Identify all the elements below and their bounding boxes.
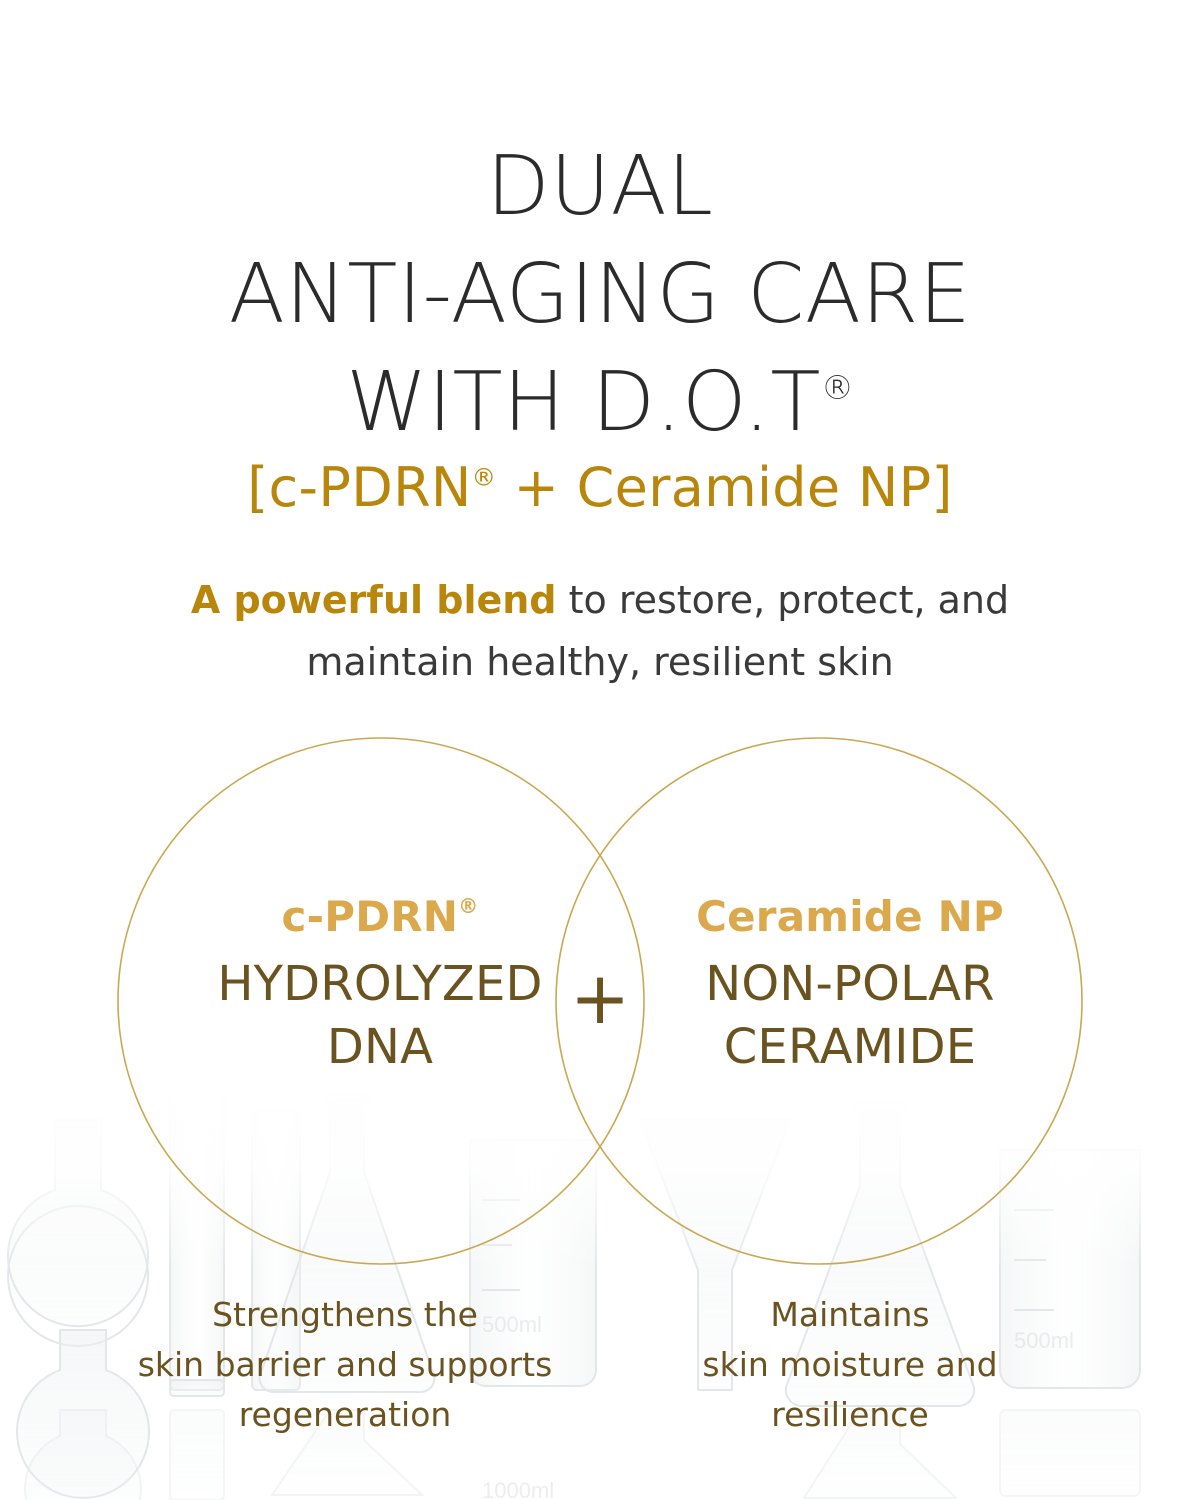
ingredient-bracket: [c-PDRN® + Ceramide NP] — [0, 458, 1200, 517]
benefit-caption-right: Maintains skin moisture and resilience — [640, 1290, 1060, 1440]
venn-right-body-line-1: NON-POLAR — [640, 953, 1060, 1015]
page-title: DUAL ANTI-AGING CARE WITH D.O.T® — [0, 133, 1200, 458]
caption-right-line-1: Maintains — [640, 1290, 1060, 1340]
registered-mark-icon: ® — [472, 462, 497, 491]
venn-left-body: HYDROLYZED DNA — [170, 953, 590, 1078]
bracket-open-text: [c-PDRN — [247, 456, 471, 519]
svg-text:1000ml: 1000ml — [482, 1478, 554, 1500]
venn-right-title: Ceramide NP — [640, 893, 1060, 941]
background-fade-overlay — [0, 1080, 1200, 1270]
registered-mark-icon: ® — [458, 894, 478, 918]
registered-mark-icon: ® — [821, 369, 854, 407]
venn-label-left: c-PDRN® HYDROLYZED DNA — [170, 893, 590, 1078]
caption-left-line-1: Strengthens the — [90, 1290, 600, 1340]
venn-left-title: c-PDRN® — [170, 893, 590, 941]
venn-label-right: Ceramide NP NON-POLAR CERAMIDE — [640, 893, 1060, 1078]
caption-right-line-2: skin moisture and — [640, 1340, 1060, 1390]
venn-left-body-line-2: DNA — [170, 1016, 590, 1078]
venn-right-body-line-2: CERAMIDE — [640, 1016, 1060, 1078]
caption-left-line-2: skin barrier and supports — [90, 1340, 600, 1390]
headline-line-3: WITH D.O.T® — [0, 349, 1200, 457]
descriptor-accent-text: A powerful blend — [191, 578, 557, 622]
descriptor-paragraph: A powerful blend to restore, protect, an… — [0, 570, 1200, 693]
venn-left-body-line-1: HYDROLYZED — [170, 953, 590, 1015]
headline-line-1: DUAL — [0, 133, 1200, 241]
caption-right-line-3: resilience — [640, 1390, 1060, 1440]
venn-right-title-text: Ceramide NP — [696, 892, 1004, 941]
bracket-close-text: + Ceramide NP] — [496, 456, 953, 519]
descriptor-line-1: A powerful blend to restore, protect, an… — [0, 570, 1200, 632]
infographic-canvas: 500ml 500ml 1000ml DUAL ANTI-AGING CARE … — [0, 0, 1200, 1500]
descriptor-line-1-rest: to restore, protect, and — [557, 578, 1010, 622]
caption-left-line-3: regeneration — [90, 1390, 600, 1440]
benefit-caption-left: Strengthens the skin barrier and support… — [90, 1290, 600, 1440]
headline-line-2: ANTI-AGING CARE — [0, 241, 1200, 349]
descriptor-line-2: maintain healthy, resilient skin — [0, 632, 1200, 694]
headline-line-3-text: WITH D.O.T — [346, 355, 821, 450]
venn-left-title-text: c-PDRN — [281, 892, 458, 941]
plus-operator-icon: + — [560, 962, 640, 1034]
venn-right-body: NON-POLAR CERAMIDE — [640, 953, 1060, 1078]
